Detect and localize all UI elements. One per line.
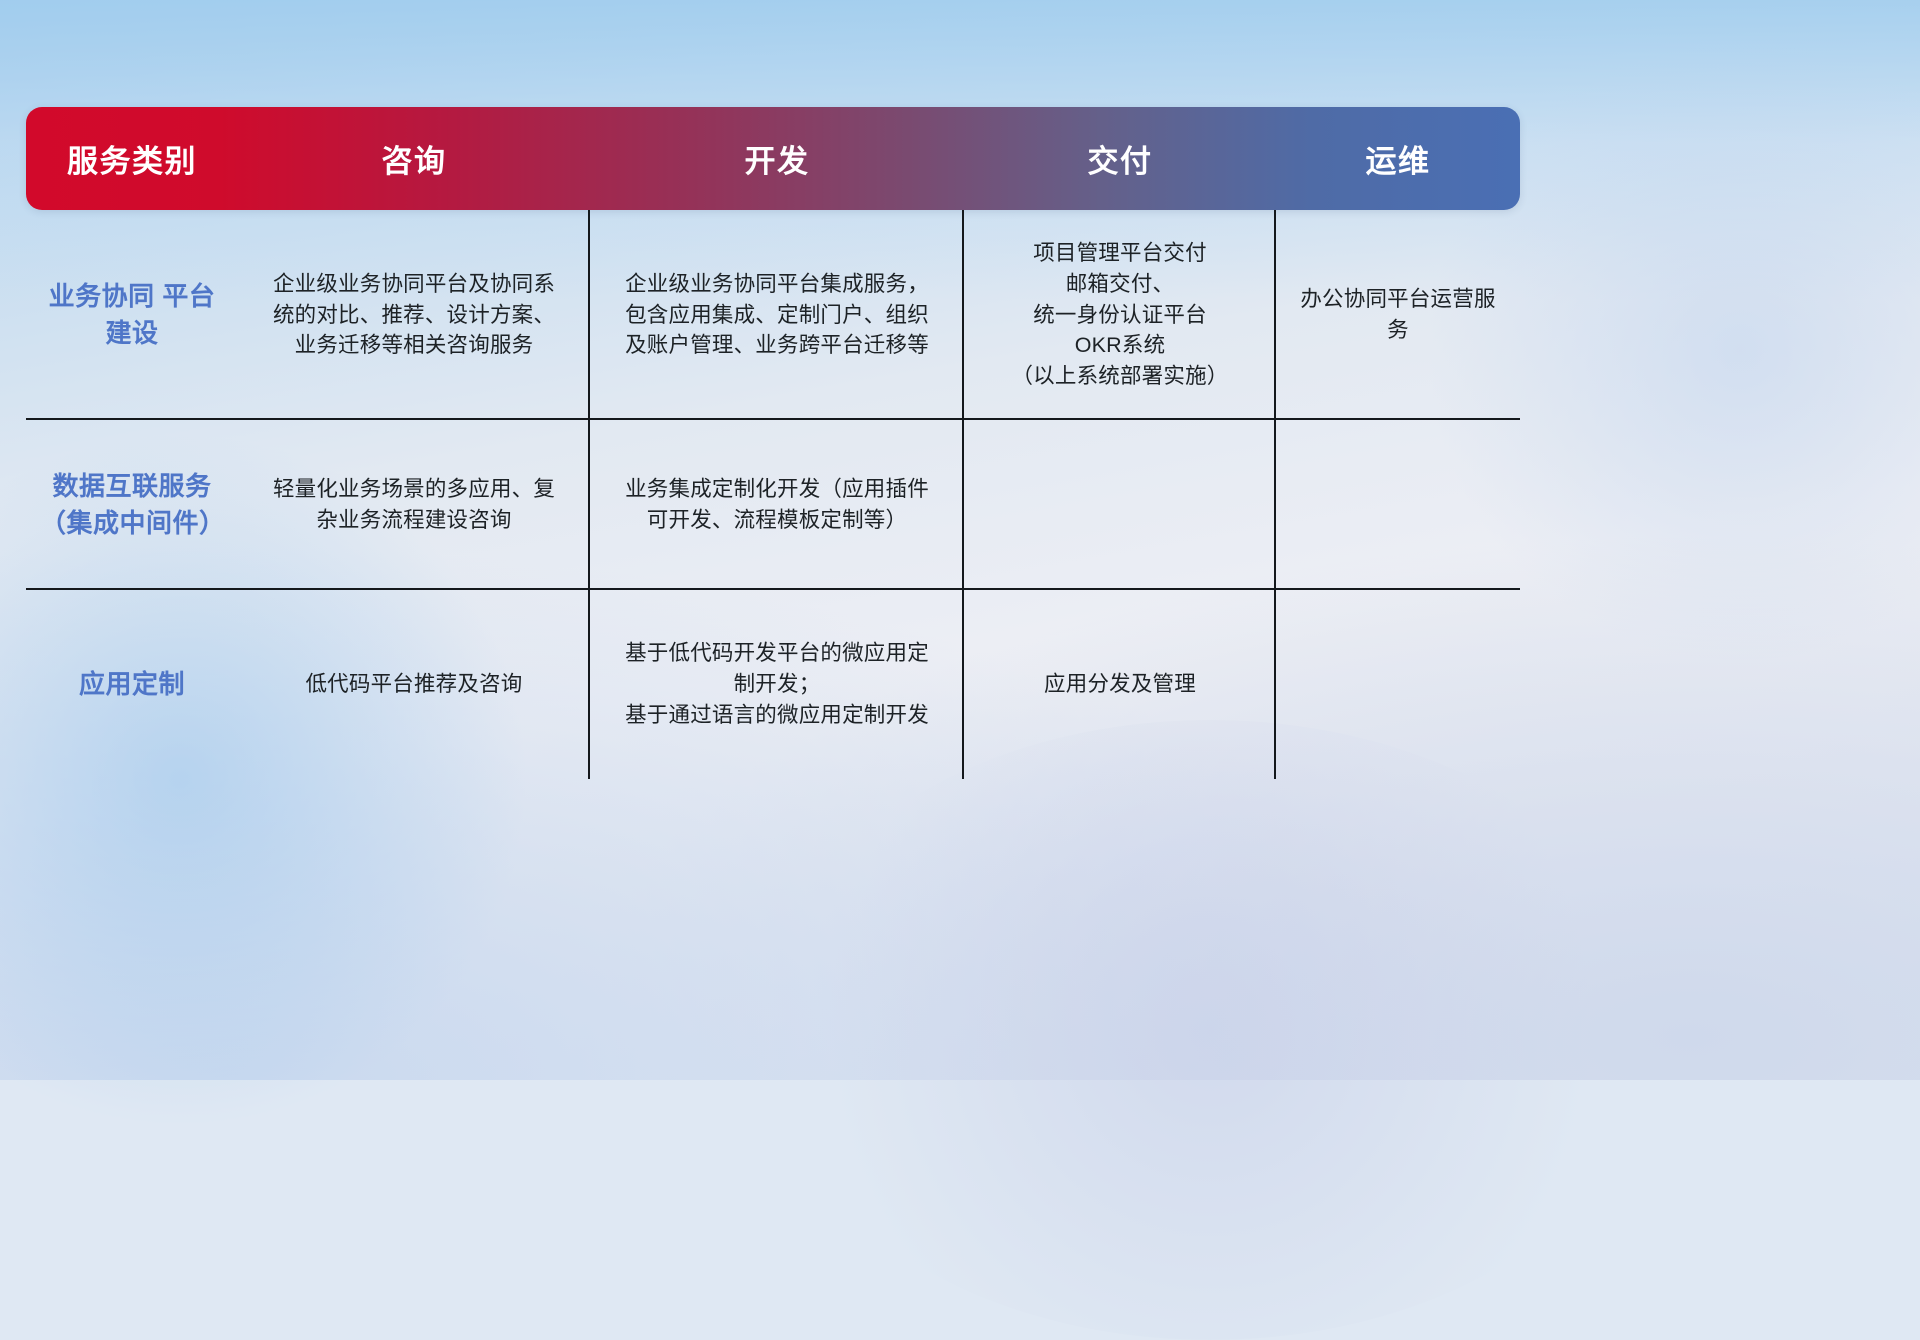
column-header-consulting: 咨询 [238,136,590,181]
background-glow-bottom [760,720,1660,1340]
column-header-development: 开发 [590,136,964,181]
cell-operations-row-2 [1276,420,1520,590]
cell-operations-row-3 [1276,590,1520,779]
cell-consulting-row-3: 低代码平台推荐及咨询 [238,590,590,779]
column-header-delivery: 交付 [964,136,1276,181]
cell-delivery-row-2 [964,420,1276,590]
service-matrix-table: 服务类别 咨询 开发 交付 运维 业务协同 平台建设 企业级业务协同平台及协同系… [26,107,1520,779]
cell-development-row-2: 业务集成定制化开发（应用插件 可开发、流程模板定制等） [590,420,964,590]
table-header-row: 服务类别 咨询 开发 交付 运维 [26,107,1520,210]
cell-consulting-row-1: 企业级业务协同平台及协同系 统的对比、推荐、设计方案、 业务迁移等相关咨询服务 [238,210,590,420]
column-header-operations: 运维 [1276,136,1520,181]
table-row: 数据互联服务 （集成中间件） [26,420,238,590]
table-row: 应用定制 [26,590,238,779]
cell-development-row-1: 企业级业务协同平台集成服务， 包含应用集成、定制门户、组织 及账户管理、业务跨平… [590,210,964,420]
cell-delivery-row-1: 项目管理平台交付 邮箱交付、 统一身份认证平台 OKR系统 （以上系统部署实施） [964,210,1276,420]
cell-operations-row-1: 办公协同平台运营服务 [1276,210,1520,420]
table-row: 业务协同 平台建设 [26,210,238,420]
cell-consulting-row-2: 轻量化业务场景的多应用、复 杂业务流程建设咨询 [238,420,590,590]
cell-delivery-row-3: 应用分发及管理 [964,590,1276,779]
cell-development-row-3: 基于低代码开发平台的微应用定 制开发； 基于通过语言的微应用定制开发 [590,590,964,779]
table-body: 业务协同 平台建设 企业级业务协同平台及协同系 统的对比、推荐、设计方案、 业务… [26,210,1520,779]
column-header-service-category: 服务类别 [26,136,238,181]
